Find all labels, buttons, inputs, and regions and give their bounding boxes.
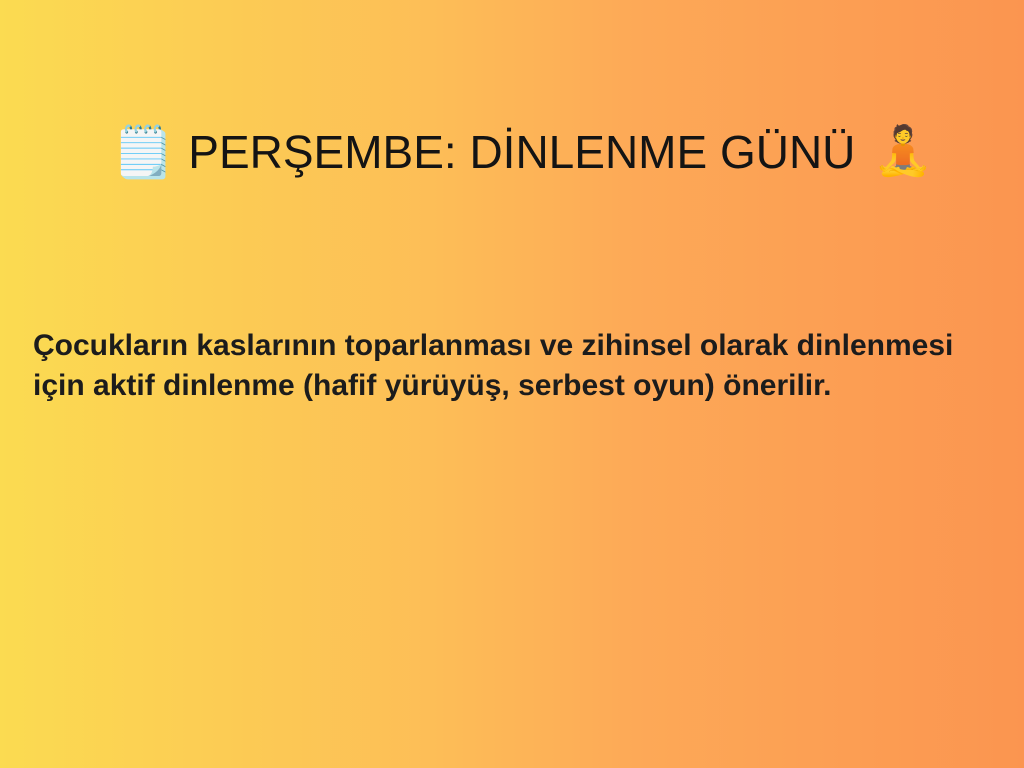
body-line: Çocukların kaslarının toparlanması ve zi…: [33, 326, 993, 366]
spiral-notepad-icon: 🗒️: [112, 127, 174, 177]
slide-canvas: 🗒️ PERŞEMBE: DİNLENME GÜNÜ 🧘 Çocukların …: [0, 0, 1024, 768]
person-in-lotus-position-icon: 🧘: [873, 128, 933, 176]
slide-body: Çocukların kaslarının toparlanması ve zi…: [33, 326, 993, 406]
body-line: için aktif dinlenme (hafif yürüyüş, serb…: [33, 366, 993, 406]
slide-title: 🗒️ PERŞEMBE: DİNLENME GÜNÜ 🧘: [112, 126, 933, 179]
page-title: PERŞEMBE: DİNLENME GÜNÜ: [188, 126, 855, 179]
